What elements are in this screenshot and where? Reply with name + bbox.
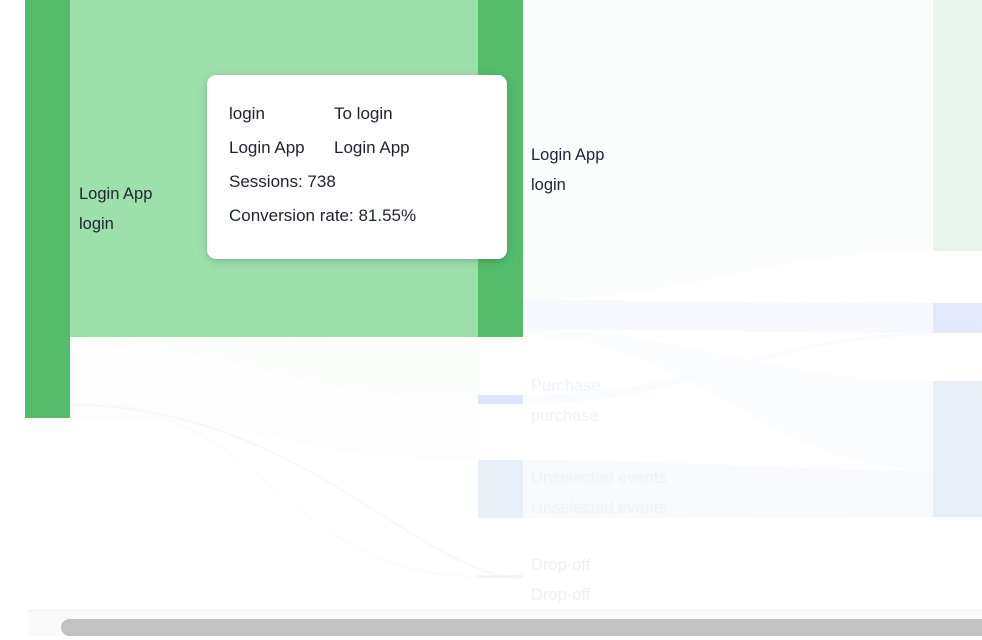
scrollbar-track[interactable] (28, 610, 982, 636)
node-step2-unselected-events[interactable] (933, 381, 982, 517)
tooltip-target-event: To login (334, 97, 393, 131)
link-step1-login-to-step2-login[interactable] (523, 0, 933, 300)
sankey-chart-area[interactable]: Login App login Login App login Purchase… (0, 0, 982, 612)
tooltip-source-event: login (229, 97, 334, 131)
scrollbar-thumb[interactable] (61, 619, 982, 636)
node-step2-login-app-login[interactable] (933, 0, 982, 251)
sankey-diagram-viewport: Login App login Login App login Purchase… (0, 0, 982, 640)
tooltip-row-event: login To login (229, 97, 485, 131)
horizontal-scrollbar[interactable] (0, 610, 982, 640)
tooltip-target-app: Login App (334, 131, 410, 165)
node-step2-purchase[interactable] (933, 303, 982, 333)
tooltip-conversion-rate: Conversion rate: 81.55% (229, 199, 485, 233)
node-step1-purchase[interactable] (478, 395, 523, 404)
tooltip-row-app: Login App Login App (229, 131, 485, 165)
link-step1-unselected-to-step2-unselected[interactable] (523, 460, 933, 518)
tooltip-source-app: Login App (229, 131, 334, 165)
node-step1-drop-off[interactable] (478, 575, 523, 578)
node-source-login-app-login[interactable] (25, 0, 70, 418)
node-step1-unselected-events[interactable] (478, 460, 523, 518)
link-step1-login-to-step2-purchase[interactable] (523, 300, 933, 333)
tooltip-sessions: Sessions: 738 (229, 165, 485, 199)
link-hover-tooltip: login To login Login App Login App Sessi… (207, 75, 507, 259)
